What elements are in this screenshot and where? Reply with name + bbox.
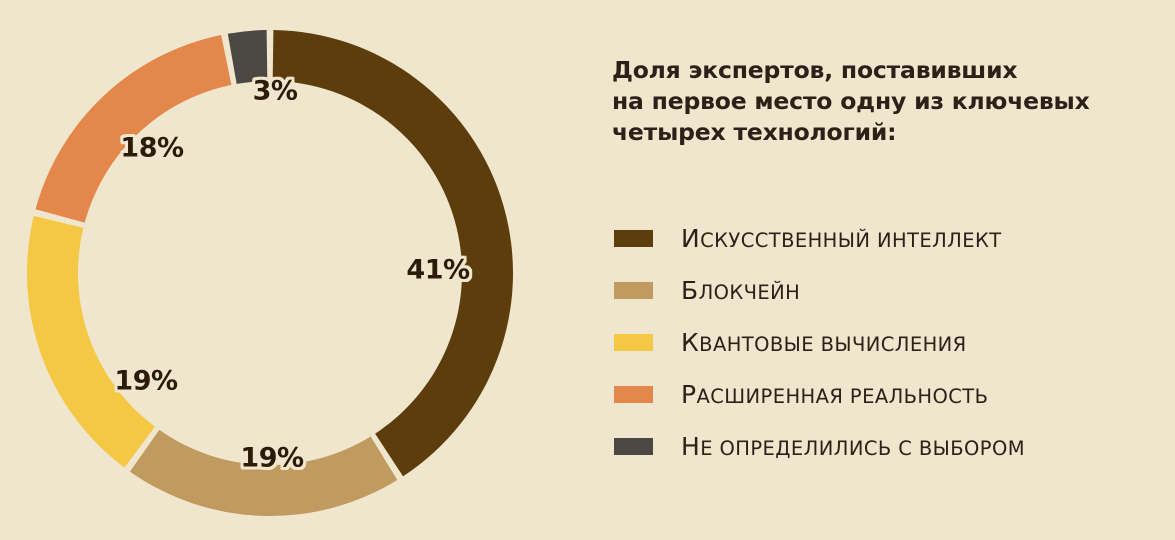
legend-item-2[interactable]: КВАНТОВЫЕ ВЫЧИСЛЕНИЯ: [614, 316, 1169, 368]
legend-swatch-3: [614, 386, 653, 403]
legend-swatch-1: [614, 282, 653, 299]
donut-chart: 41%19%19%18%3%: [0, 0, 560, 540]
slice-label-undecided: 3%: [253, 76, 298, 107]
legend-label-0: ИСКУССТВЕННЫЙ ИНТЕЛЛЕКТ: [681, 224, 1002, 253]
legend-swatch-0: [614, 230, 653, 247]
legend-swatch-4: [614, 438, 653, 455]
legend-swatch-2: [614, 334, 653, 351]
slice-label-blockchain: 19%: [240, 443, 303, 474]
donut-slice-quantum[interactable]: [27, 216, 155, 468]
legend-item-3[interactable]: РАСШИРЕННАЯ РЕАЛЬНОСТЬ: [614, 368, 1169, 420]
chart-title-line-3: четырех технологий:: [612, 117, 1157, 148]
legend-label-4: НЕ ОПРЕДЕЛИЛИСЬ С ВЫБОРОМ: [681, 432, 1025, 461]
infographic-root: 41%19%19%18%3% Доля экспертов, поставивш…: [0, 0, 1175, 540]
right-panel: Доля экспертов, поставивших на первое ме…: [610, 0, 1175, 540]
legend-label-2: КВАНТОВЫЕ ВЫЧИСЛЕНИЯ: [681, 328, 967, 357]
donut-slice-ar[interactable]: [36, 35, 232, 223]
legend-item-0[interactable]: ИСКУССТВЕННЫЙ ИНТЕЛЛЕКТ: [614, 212, 1169, 264]
slice-label-quantum: 19%: [114, 366, 177, 397]
legend-label-3: РАСШИРЕННАЯ РЕАЛЬНОСТЬ: [681, 380, 988, 409]
legend-item-1[interactable]: БЛОКЧЕЙН: [614, 264, 1169, 316]
chart-title-line-1: Доля экспертов, поставивших: [612, 55, 1157, 86]
legend-label-1: БЛОКЧЕЙН: [681, 276, 800, 305]
slice-label-ai: 41%: [406, 255, 469, 286]
chart-legend: ИСКУССТВЕННЫЙ ИНТЕЛЛЕКТБЛОКЧЕЙНКВАНТОВЫЕ…: [614, 212, 1169, 472]
chart-title-line-2: на первое место одну из ключевых: [612, 86, 1157, 117]
legend-item-4[interactable]: НЕ ОПРЕДЕЛИЛИСЬ С ВЫБОРОМ: [614, 420, 1169, 472]
chart-title: Доля экспертов, поставивших на первое ме…: [612, 55, 1157, 148]
donut-slice-ai[interactable]: [273, 30, 513, 476]
slice-label-ar: 18%: [120, 133, 183, 164]
